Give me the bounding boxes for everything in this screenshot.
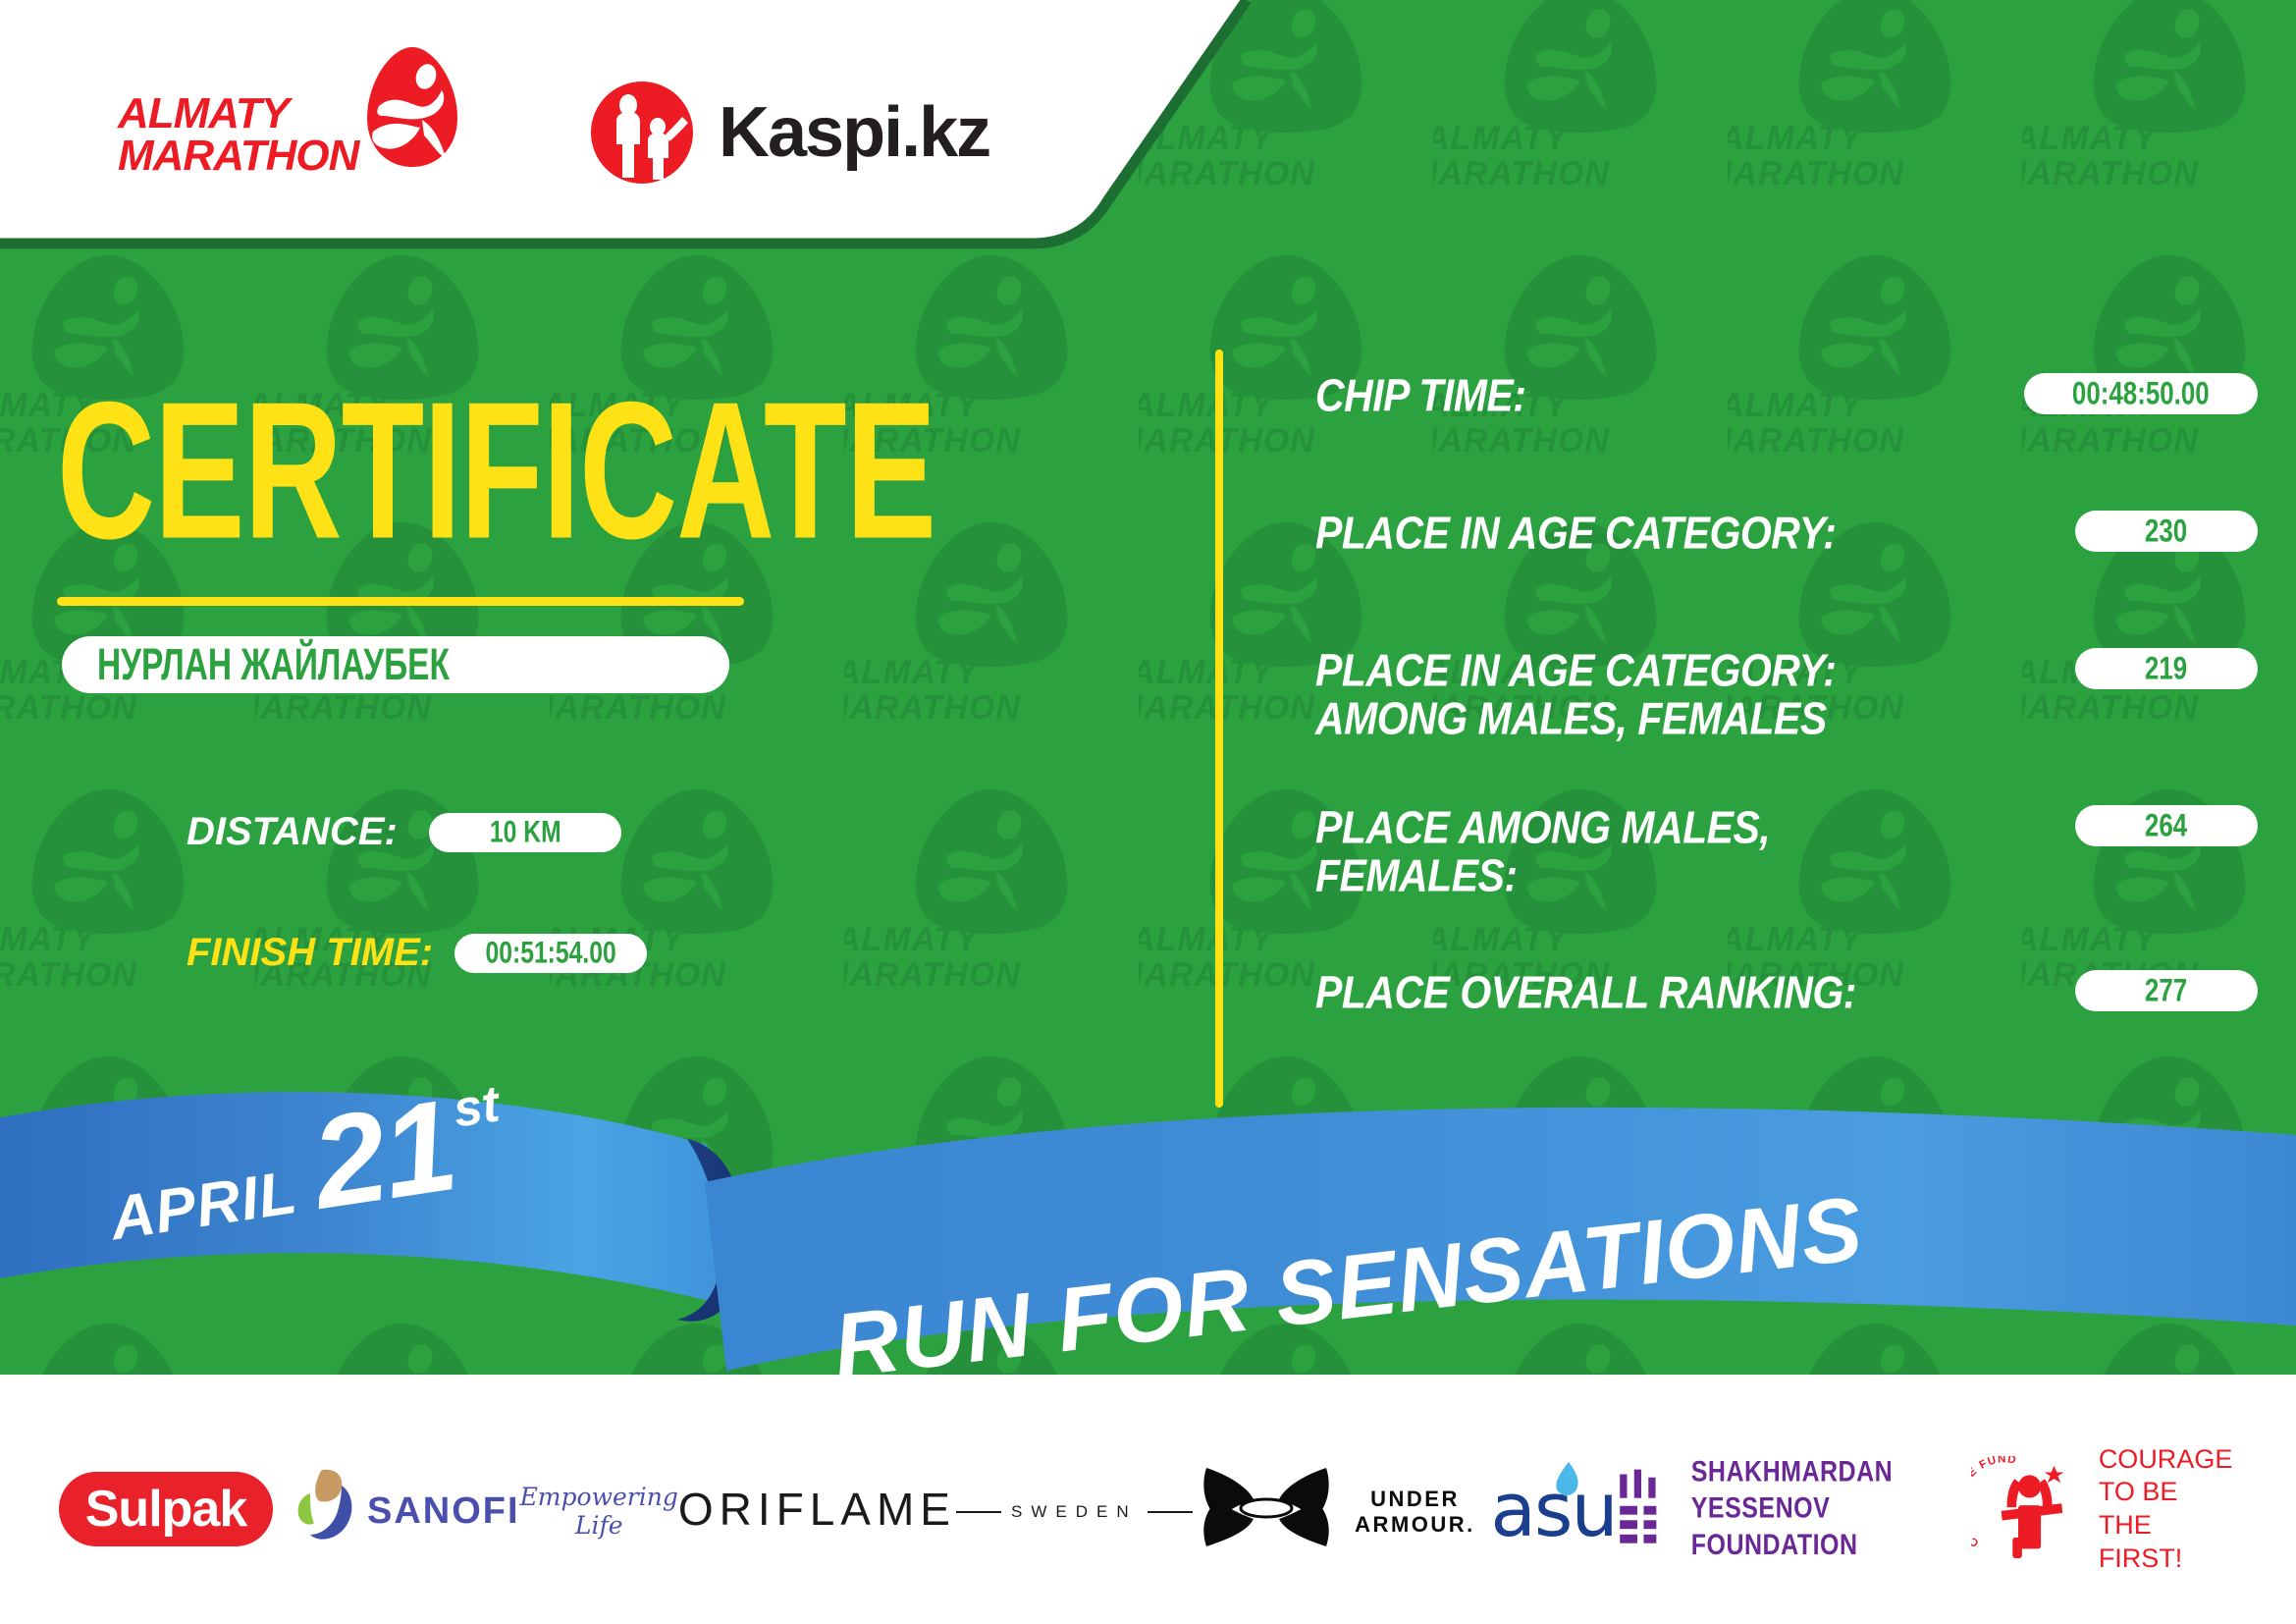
result-value-pill: 00:48:50.00 bbox=[2024, 373, 2258, 414]
finish-time-value-pill: 00:51:54.00 bbox=[454, 934, 647, 973]
kaspi-people-icon bbox=[589, 80, 695, 186]
result-label: PLACE IN AGE CATEGORY: AMONG MALES, FEMA… bbox=[1315, 646, 1836, 743]
result-label: PLACE IN AGE CATEGORY: bbox=[1315, 509, 1836, 558]
courage-line-1: COURAGE bbox=[2099, 1443, 2237, 1477]
almaty-word: ALMATY bbox=[118, 92, 358, 135]
result-value-pill: 219 bbox=[2075, 648, 2258, 689]
participant-name: НУРЛАН ЖАЙЛАУБЕК bbox=[97, 639, 450, 691]
yessenov-line-2: FOUNDATION bbox=[1691, 1527, 1972, 1563]
event-day-suffix: st bbox=[450, 1074, 504, 1139]
distance-value-pill: 10 KM bbox=[429, 813, 621, 852]
result-value-pill: 264 bbox=[2075, 805, 2258, 846]
under-armour-wordmark: UNDER ARMOUR. bbox=[1340, 1487, 1491, 1538]
result-value: 264 bbox=[2145, 807, 2187, 843]
sulpak-wordmark: Sulpak bbox=[85, 1480, 247, 1539]
result-value: 00:48:50.00 bbox=[2072, 375, 2210, 411]
title-underline-rule bbox=[57, 597, 744, 606]
oriflame-rule-left bbox=[956, 1511, 1001, 1513]
asu-droplet-icon bbox=[1549, 1460, 1582, 1499]
sanofi-tagline: Empowering Life bbox=[520, 1483, 678, 1540]
vertical-divider bbox=[1215, 350, 1223, 1108]
result-label: PLACE AMONG MALES, FEMALES: bbox=[1315, 803, 1770, 900]
result-row-place-among-males-females: PLACE AMONG MALES, FEMALES: 264 bbox=[1276, 803, 2258, 968]
participant-name-field: НУРЛАН ЖАЙЛАУБЕК bbox=[62, 636, 729, 693]
header-logo-row: ALMATY MARATHON Kaspi.kz bbox=[0, 0, 1178, 265]
sponsor-courage-to-be-the-first: CORPORATE FUND COURAGE TO BE THE FIRST! bbox=[1971, 1443, 2237, 1576]
kaspi-logo: Kaspi.kz bbox=[589, 80, 989, 186]
under-armour-icon bbox=[1193, 1462, 1340, 1552]
sponsor-under-armour: UNDER ARMOUR. bbox=[1193, 1462, 1491, 1557]
result-value: 230 bbox=[2145, 513, 2187, 549]
result-row-place-overall-ranking: PLACE OVERALL RANKING: 277 bbox=[1276, 968, 2258, 1056]
almaty-marathon-runner-icon bbox=[363, 45, 461, 171]
result-row-place-age-category-among: PLACE IN AGE CATEGORY: AMONG MALES, FEMA… bbox=[1276, 646, 2258, 803]
almaty-marathon-logo: ALMATY MARATHON bbox=[118, 59, 461, 206]
sulpak-logo: Sulpak bbox=[59, 1472, 273, 1546]
sponsor-asu: asu bbox=[1490, 1466, 1616, 1553]
sponsor-yessenov-foundation: SHAKHMARDAN YESSENOV FOUNDATION bbox=[1617, 1460, 1972, 1558]
sponsor-sulpak: Sulpak bbox=[59, 1472, 273, 1546]
result-label: PLACE OVERALL RANKING: bbox=[1315, 968, 1856, 1017]
oriflame-subtitle: SWEDEN bbox=[1011, 1502, 1138, 1522]
result-label: CHIP TIME: bbox=[1315, 371, 1525, 420]
distance-row: DISTANCE: 10 KM bbox=[187, 810, 621, 854]
results-list: CHIP TIME: 00:48:50.00 PLACE IN AGE CATE… bbox=[1276, 371, 2258, 1056]
kaspi-wordmark: Kaspi.kz bbox=[719, 92, 989, 173]
sanofi-bird-icon bbox=[273, 1466, 367, 1548]
courage-fund-person-icon: CORPORATE FUND bbox=[1971, 1456, 2082, 1562]
page-title: CERTIFICATE bbox=[57, 373, 935, 568]
finish-time-value: 00:51:54.00 bbox=[485, 935, 615, 971]
oriflame-rule-right bbox=[1148, 1511, 1193, 1513]
result-value: 219 bbox=[2145, 650, 2187, 686]
sanofi-wordmark: SANOFI bbox=[367, 1490, 520, 1533]
event-day: 21 bbox=[306, 1093, 460, 1217]
finish-time-row: FINISH TIME: 00:51:54.00 bbox=[187, 931, 647, 975]
oriflame-wordmark: ORIFLAME bbox=[678, 1483, 956, 1536]
finish-time-label: FINISH TIME: bbox=[187, 931, 433, 975]
result-value-pill: 230 bbox=[2075, 511, 2258, 552]
marathon-word: MARATHON bbox=[118, 135, 358, 177]
distance-value: 10 KM bbox=[489, 814, 561, 850]
result-value-pill: 277 bbox=[2075, 970, 2258, 1011]
yessenov-bars-icon bbox=[1617, 1460, 1666, 1558]
sponsor-oriflame: ORIFLAME SWEDEN bbox=[678, 1483, 1193, 1536]
oriflame-subtitle-row: SWEDEN bbox=[956, 1502, 1193, 1522]
distance-label: DISTANCE: bbox=[187, 810, 398, 854]
yessenov-line-1: SHAKHMARDAN YESSENOV bbox=[1691, 1455, 1972, 1528]
result-row-place-age-category: PLACE IN AGE CATEGORY: 230 bbox=[1276, 509, 2258, 646]
almaty-marathon-wordmark: ALMATY MARATHON bbox=[118, 92, 358, 177]
certificate-page: ALMATY MARATHON bbox=[0, 0, 2296, 1624]
sponsor-bar: Sulpak SANOFI Empowering Life ORIFLAME S… bbox=[0, 1394, 2296, 1624]
result-value: 277 bbox=[2145, 972, 2187, 1008]
courage-line-2: TO BE bbox=[2099, 1476, 2237, 1509]
yessenov-wordmark: SHAKHMARDAN YESSENOV FOUNDATION bbox=[1691, 1455, 1972, 1564]
courage-wordmark: COURAGE TO BE THE FIRST! bbox=[2099, 1443, 2237, 1576]
result-row-chip-time: CHIP TIME: 00:48:50.00 bbox=[1276, 371, 2258, 509]
sponsor-sanofi: SANOFI Empowering Life bbox=[273, 1466, 678, 1553]
courage-line-3: THE FIRST! bbox=[2099, 1509, 2237, 1576]
